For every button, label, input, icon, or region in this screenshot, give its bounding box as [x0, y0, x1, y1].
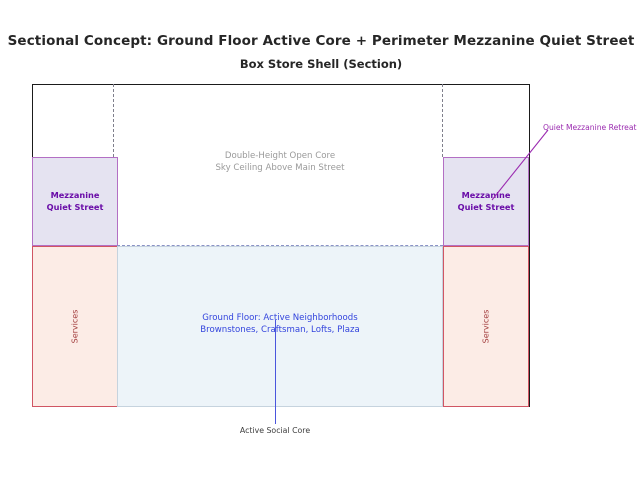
guide-line-right — [442, 84, 443, 157]
zone-services-left: Services — [32, 246, 118, 407]
guide-line-left — [113, 84, 114, 157]
page-subtitle: Box Store Shell (Section) — [0, 57, 642, 71]
zone-mezzanine-left: Mezzanine Quiet Street — [32, 157, 118, 246]
page-title: Sectional Concept: Ground Floor Active C… — [0, 33, 642, 49]
annotation-leader-social-core — [275, 320, 276, 424]
zone-active-core-label: Ground Floor: Active Neighborhoods Brown… — [117, 312, 443, 337]
open-core-label: Double-Height Open Core Sky Ceiling Abov… — [117, 150, 443, 175]
annotation-quiet-mezzanine-retreat: Quiet Mezzanine Retreat — [543, 123, 636, 132]
zone-mezzanine-right: Mezzanine Quiet Street — [443, 157, 529, 246]
zone-mezzanine-left-label: Mezzanine Quiet Street — [47, 190, 104, 212]
zone-mezzanine-right-label: Mezzanine Quiet Street — [458, 190, 515, 212]
diagram-canvas: Sectional Concept: Ground Floor Active C… — [0, 0, 642, 501]
zone-services-right: Services — [443, 246, 529, 407]
annotation-active-social-core: Active Social Core — [0, 426, 550, 435]
zone-services-right-label: Services — [481, 310, 490, 344]
zone-services-left-label: Services — [70, 310, 79, 344]
